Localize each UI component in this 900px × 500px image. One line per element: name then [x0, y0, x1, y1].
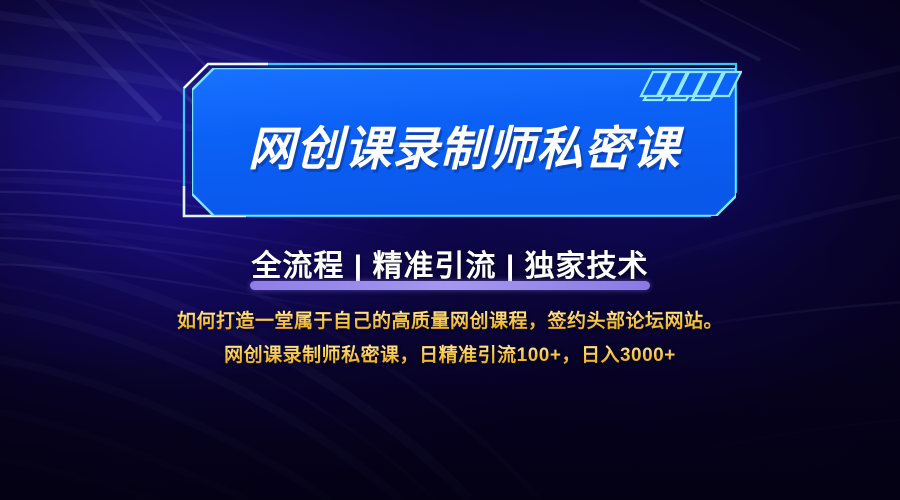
poster-title: 网创课录制师私密课 [192, 68, 736, 216]
body-line-1: 如何打造一堂属于自己的高质量网创课程，签约头部论坛网站。 [0, 306, 900, 333]
poster-subtitle: 全流程 | 精准引流 | 独家技术 [0, 241, 900, 285]
title-banner: 网创课录制师私密课 [182, 62, 738, 218]
poster-canvas: 网创课录制师私密课 全流程 | 精准引流 | 独家技术 如何打造一堂属于自己的高… [0, 0, 900, 500]
body-line-2: 网创课录制师私密课，日精准引流100+，日入3000+ [0, 340, 900, 367]
subtitle-underline-bar [250, 281, 650, 290]
